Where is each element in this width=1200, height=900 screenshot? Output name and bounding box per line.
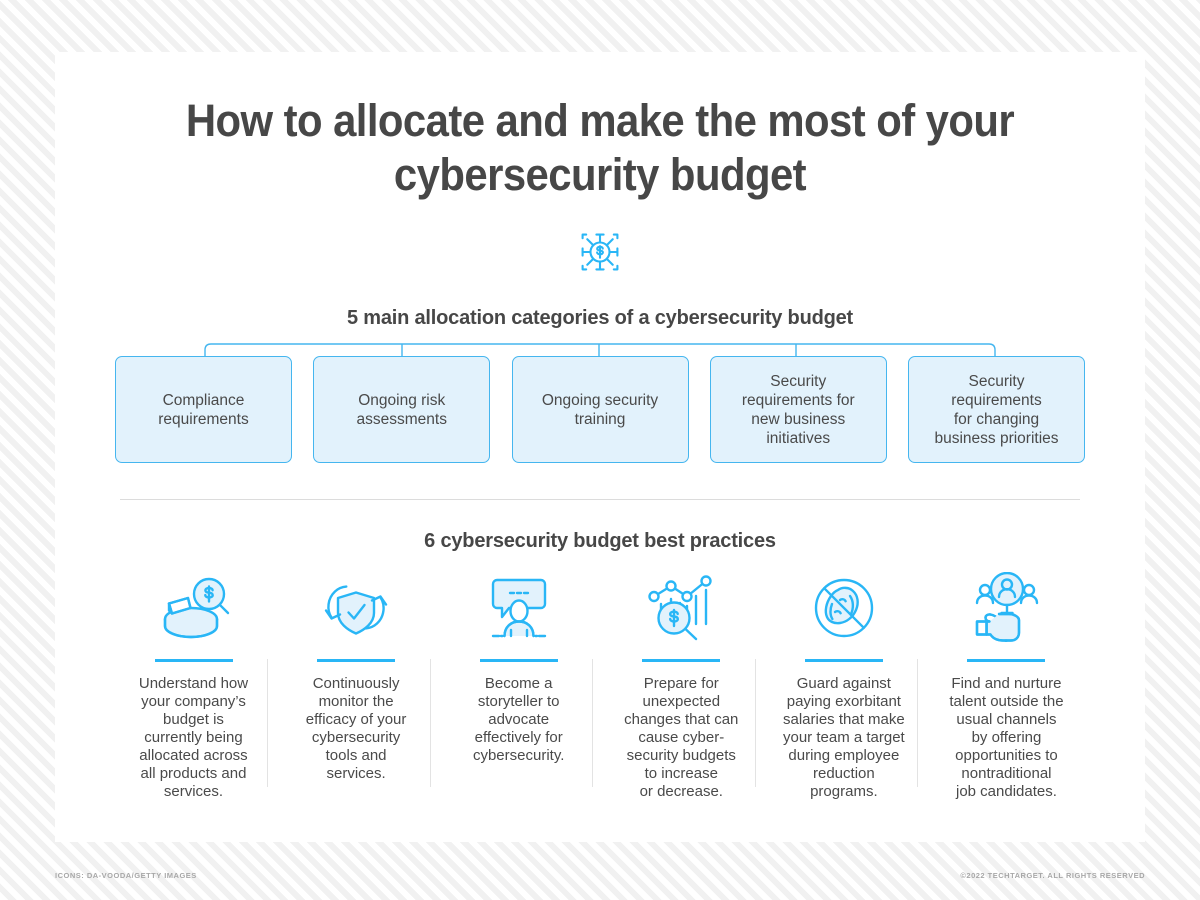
practice-icon-wrap-2 — [317, 575, 395, 647]
practice-item-5: Guard against paying exorbitant salaries… — [763, 575, 925, 801]
footer-copyright: ©2022 TECHTARGET. ALL RIGHTS RESERVED — [960, 871, 1145, 880]
allocation-tree: Compliance requirements Ongoing risk ass… — [115, 330, 1085, 465]
header-icon-wrap — [55, 226, 1145, 283]
practice-icon-rule-4 — [642, 659, 720, 662]
practice-text-6: Find and nurture talent outside the usua… — [949, 675, 1063, 801]
practice-item-1: Understand how your company’s budget is … — [113, 575, 275, 801]
practice-icon-wrap-4 — [644, 575, 718, 647]
allocation-box-2: Ongoing risk assessments — [313, 356, 490, 463]
practice-text-4: Prepare for unexpected changes that can … — [624, 675, 738, 801]
shield-check-refresh-icon — [317, 572, 395, 647]
practice-item-6: Find and nurture talent outside the usua… — [925, 575, 1087, 801]
no-money-bag-prohibited-icon — [810, 574, 878, 647]
practices-row: Understand how your company’s budget is … — [113, 575, 1088, 801]
allocation-box-row: Compliance requirements Ongoing risk ass… — [115, 356, 1085, 463]
line-chart-magnifier-dollar-icon — [644, 572, 718, 647]
practice-icon-wrap-3 — [484, 575, 554, 647]
practice-text-2: Continuously monitor the efficacy of you… — [306, 675, 407, 783]
allocation-box-1: Compliance requirements — [115, 356, 292, 463]
practice-item-4: Prepare for unexpected changes that can … — [600, 575, 762, 801]
dollar-network-allocation-icon — [574, 226, 626, 283]
allocation-box-5: Security requirements for changing busin… — [908, 356, 1085, 463]
allocation-box-3: Ongoing security training — [512, 356, 689, 463]
hand-magnifier-people-talent-icon — [966, 572, 1046, 647]
pie-chart-magnifier-dollar-icon — [152, 572, 236, 647]
speech-bubble-person-icon — [484, 572, 554, 647]
footer-credit: ICONS: DA-VOODA/GETTY IMAGES — [55, 871, 197, 880]
practice-icon-wrap-5 — [810, 575, 878, 647]
page-title: How to allocate and make the most of you… — [93, 52, 1107, 202]
practice-icon-wrap-1 — [152, 575, 236, 647]
practice-icon-rule-6 — [967, 659, 1045, 662]
practices-section-title: 6 cybersecurity budget best practices — [55, 530, 1145, 553]
practice-icon-rule-5 — [805, 659, 883, 662]
practice-text-1: Understand how your company’s budget is … — [139, 675, 248, 801]
infographic-card: How to allocate and make the most of you… — [55, 52, 1145, 842]
section-divider — [120, 499, 1080, 500]
practice-icon-rule-2 — [317, 659, 395, 662]
practice-text-5: Guard against paying exorbitant salaries… — [783, 675, 905, 801]
practice-item-2: Continuously monitor the efficacy of you… — [275, 575, 437, 801]
practice-text-3: Become a storyteller to advocate effecti… — [473, 675, 564, 765]
practice-icon-wrap-6 — [966, 575, 1046, 647]
practice-item-3: Become a storyteller to advocate effecti… — [438, 575, 600, 801]
allocation-box-4: Security requirements for new business i… — [710, 356, 887, 463]
practice-icon-rule-3 — [480, 659, 558, 662]
practice-icon-rule-1 — [155, 659, 233, 662]
allocation-section-title: 5 main allocation categories of a cybers… — [55, 307, 1145, 330]
